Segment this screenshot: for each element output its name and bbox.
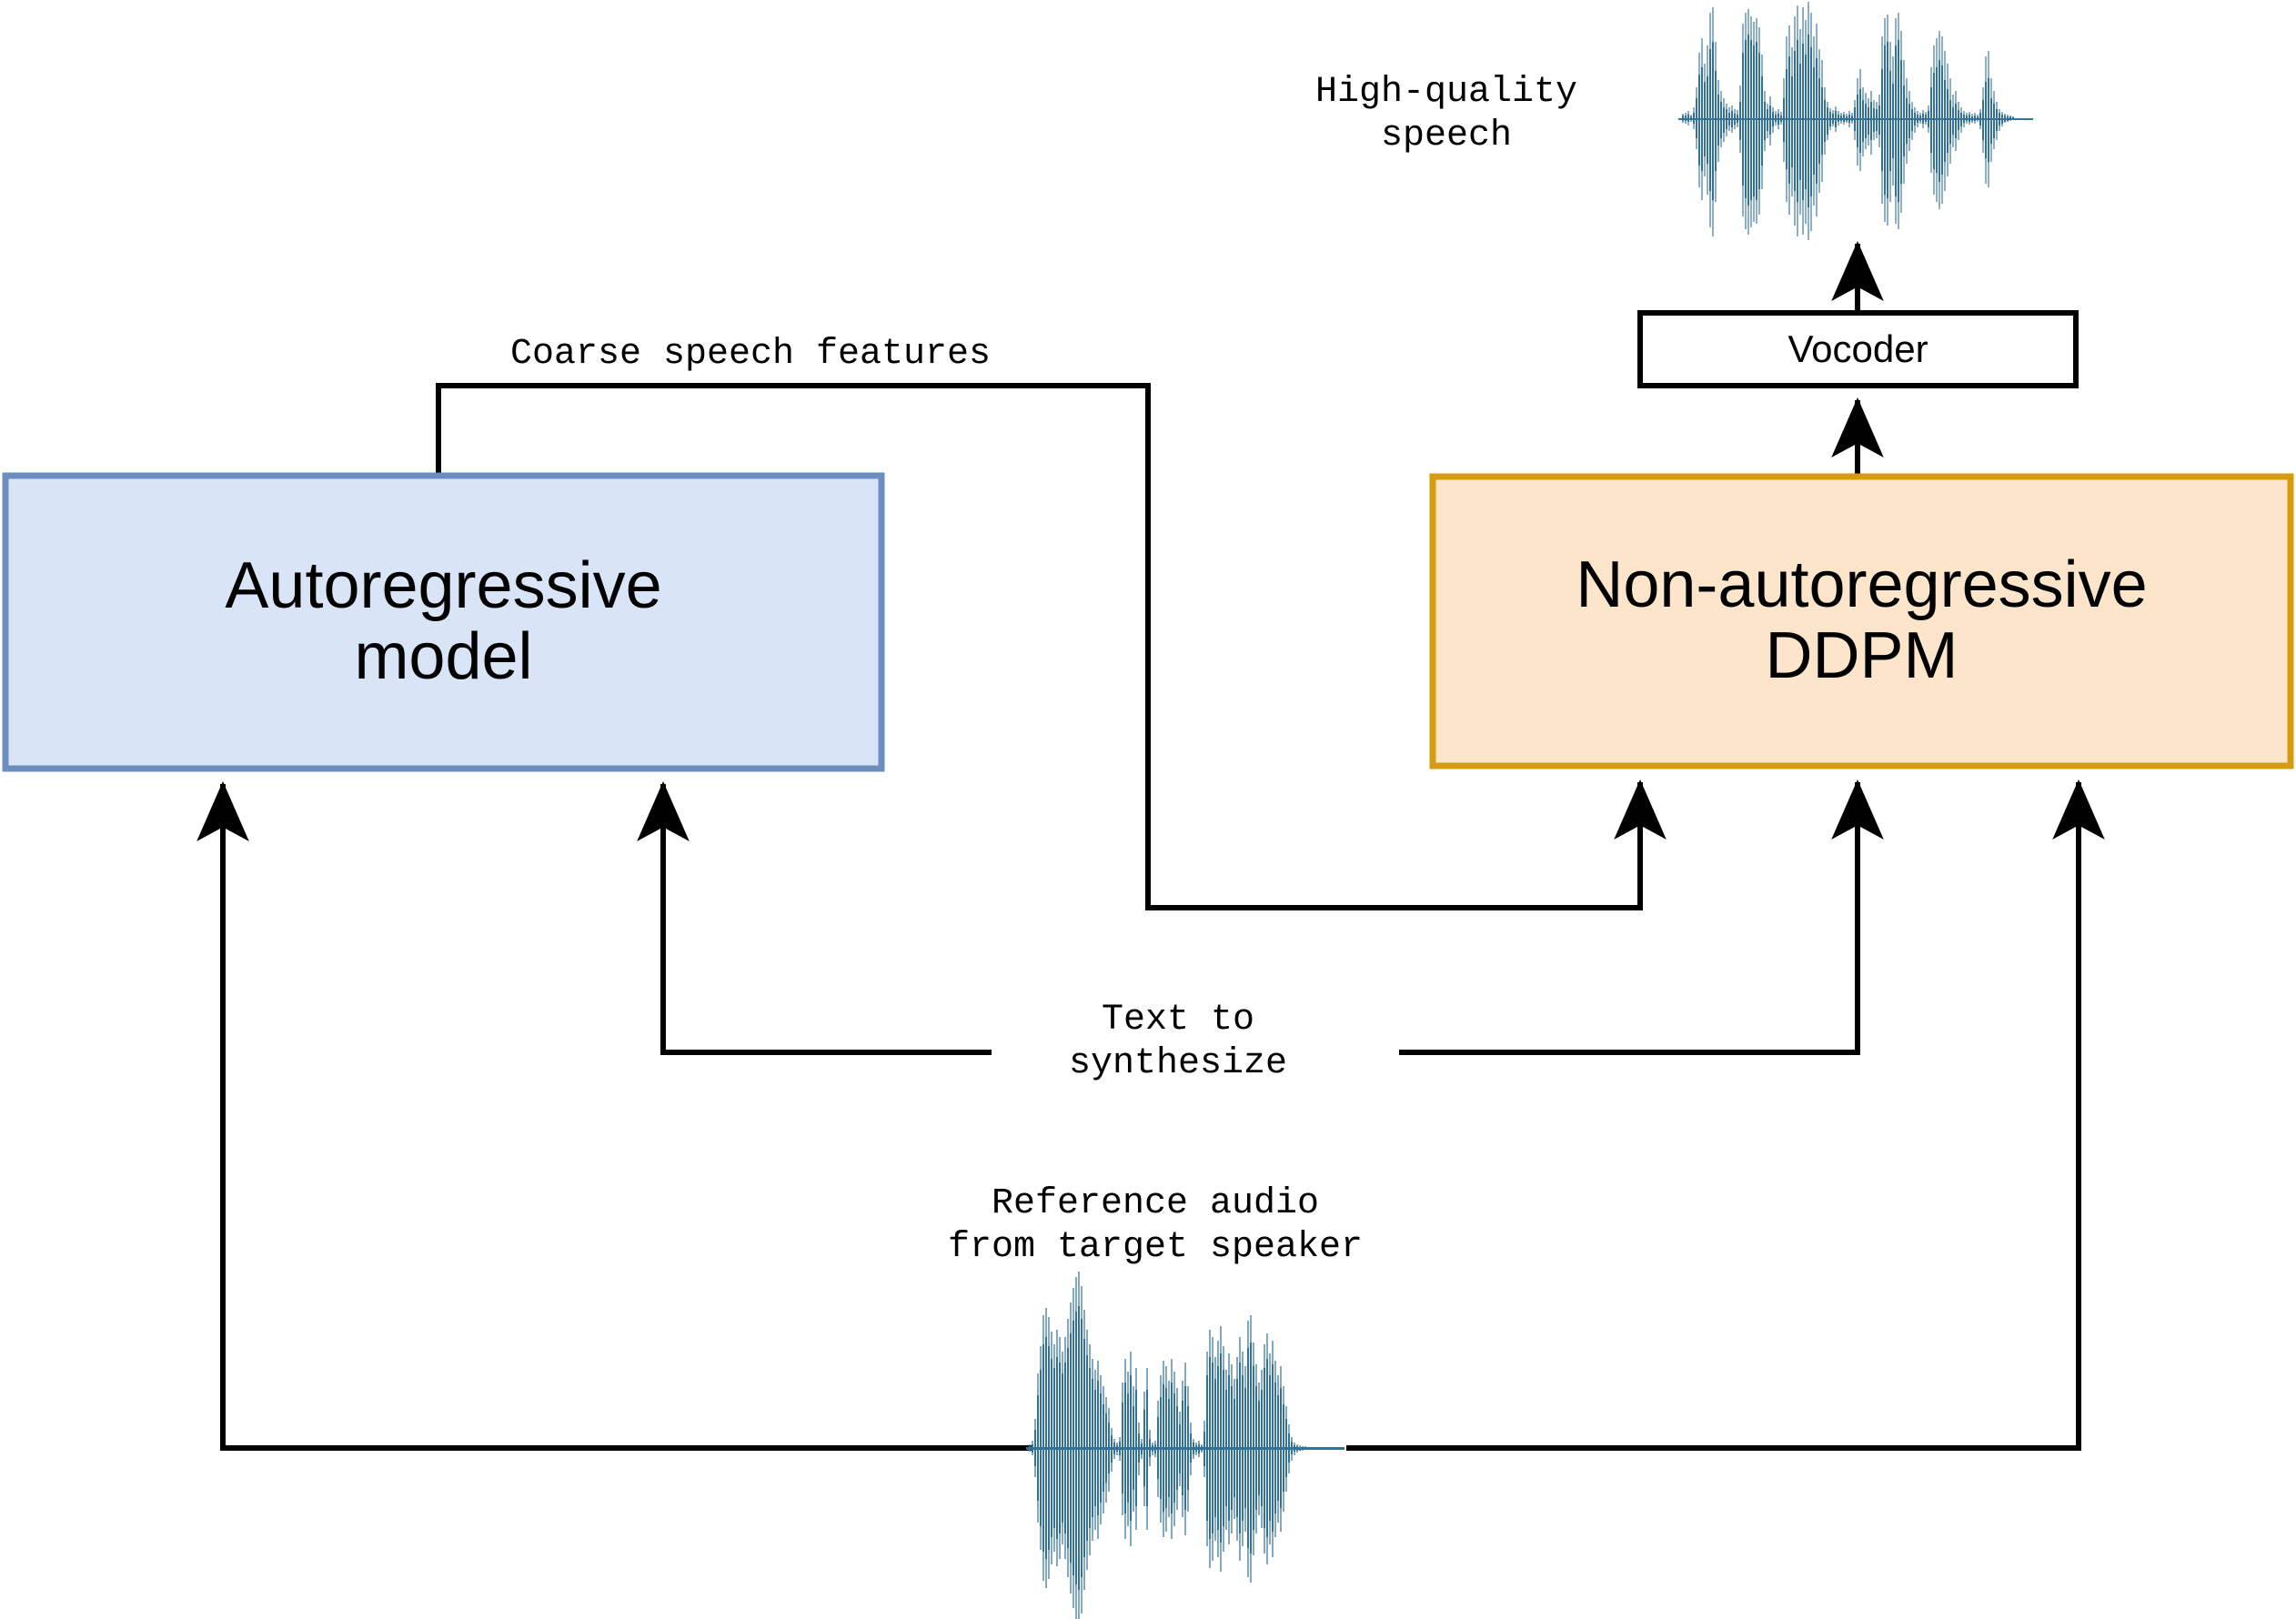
non-autoregressive-ddpm-box[interactable] [1433,477,2291,766]
reference-waveform [1026,1272,1344,1619]
diagram-canvas: Autoregressive model Non-autoregressive … [0,0,2296,1619]
autoregressive-model-box[interactable] [5,476,881,769]
vocoder-box[interactable] [1640,313,2076,386]
edge-text-to-autoregressive [663,784,992,1052]
flow-diagram [0,0,2296,1619]
edge-text-to-ddpm [1399,782,1858,1052]
edge-reference-to-ddpm [1346,782,2079,1448]
output-waveform [1678,2,2033,240]
edge-reference-to-autoregressive [223,784,1032,1448]
edge-group [223,244,2079,1448]
